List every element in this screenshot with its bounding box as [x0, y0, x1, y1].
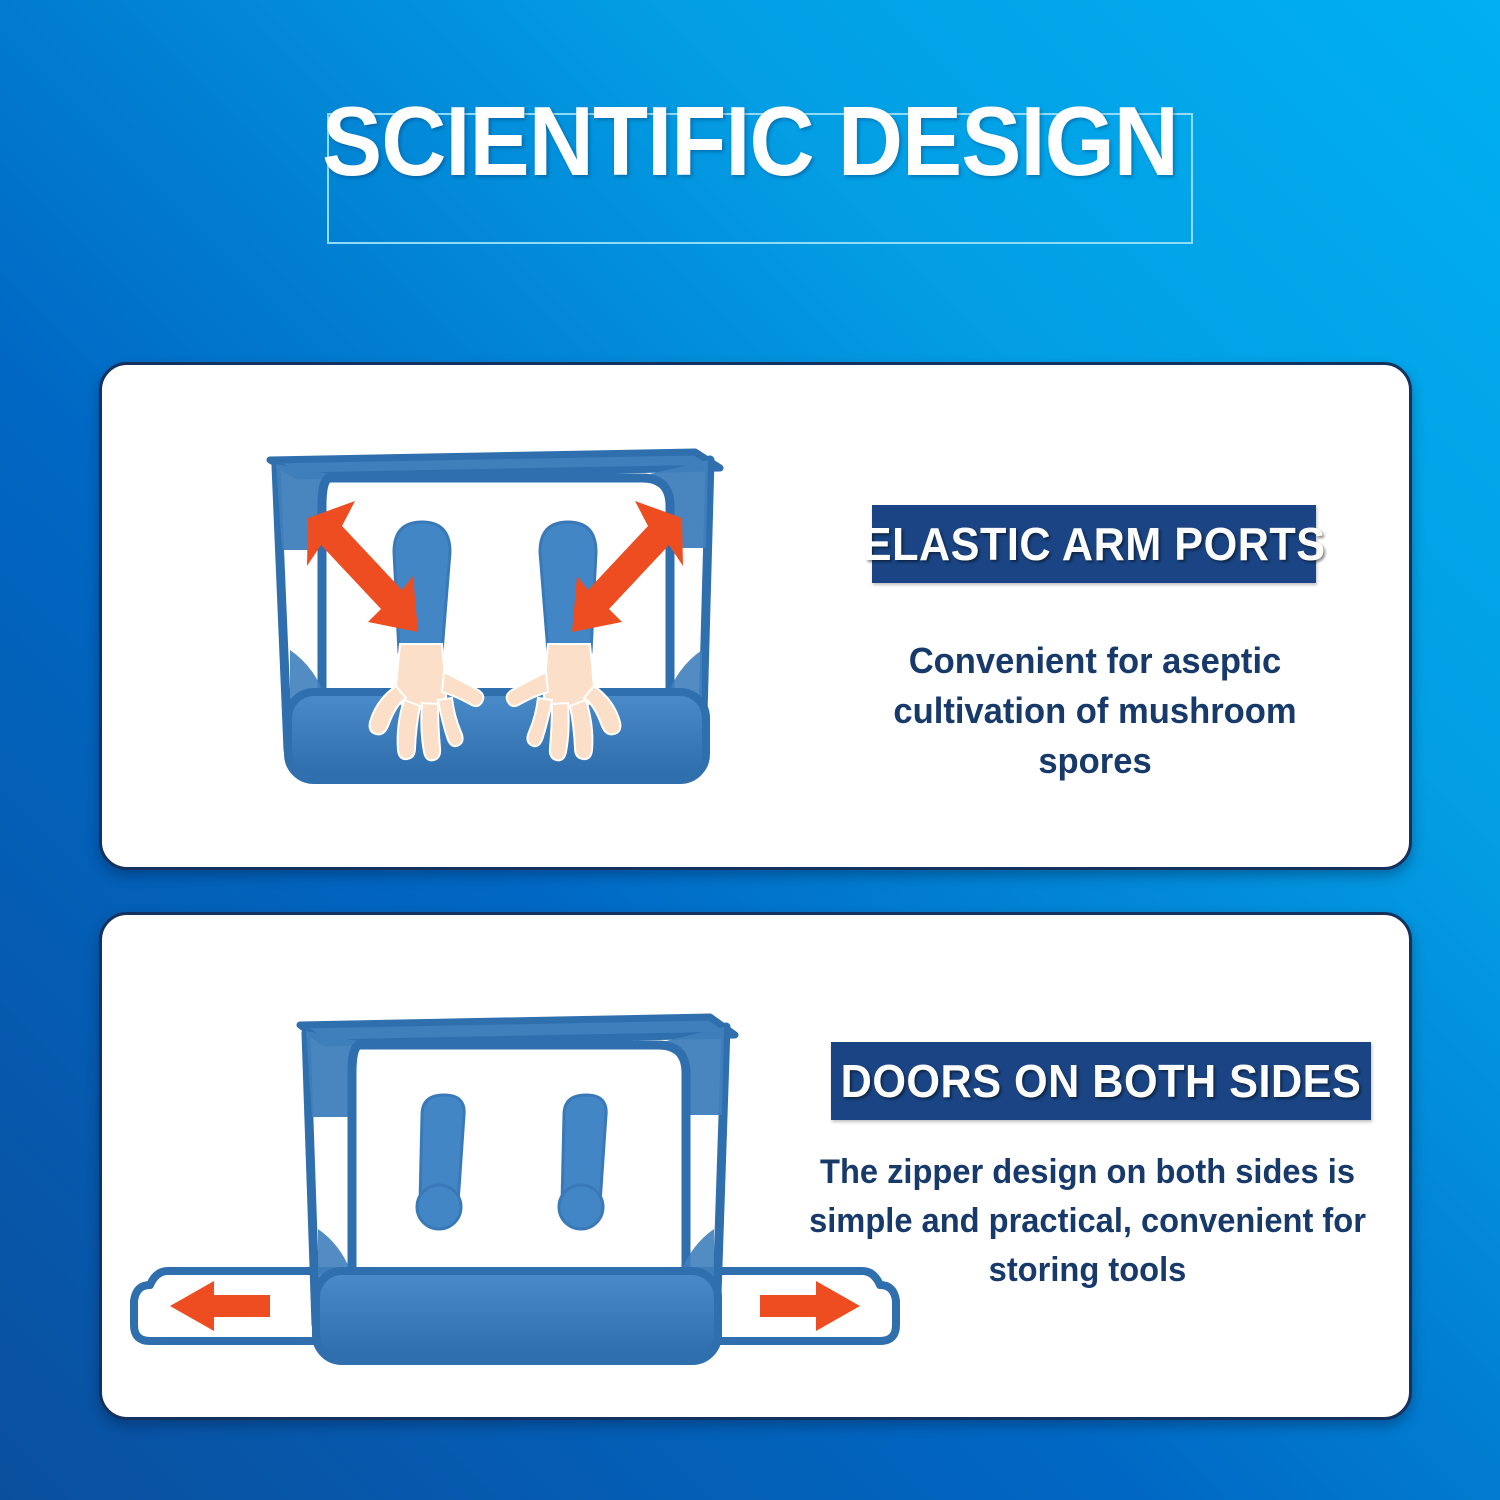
illustration-glove-box-with-arm-ports: [190, 400, 810, 830]
box-body-panel: [352, 1045, 686, 1295]
card-heading-text: ELASTIC ARM PORTS: [863, 517, 1326, 571]
arm-port-sleeve-right: [559, 1095, 606, 1229]
card-body-text-elastic-arm-ports: Convenient for aseptic cultivation of mu…: [869, 636, 1320, 786]
card-heading-bar-doors-on-both-sides: DOORS ON BOTH SIDES: [831, 1042, 1371, 1120]
box-base: [316, 1271, 718, 1361]
card-body-text-doors-on-both-sides: The zipper design on both sides is simpl…: [783, 1148, 1393, 1295]
card-heading-text: DOORS ON BOTH SIDES: [841, 1054, 1362, 1108]
box-base: [288, 692, 706, 780]
card-heading-bar-elastic-arm-ports: ELASTIC ARM PORTS: [872, 505, 1316, 583]
arm-port-sleeve-left: [417, 1095, 464, 1229]
page-title: SCIENTIFIC DESIGN: [60, 92, 1440, 190]
